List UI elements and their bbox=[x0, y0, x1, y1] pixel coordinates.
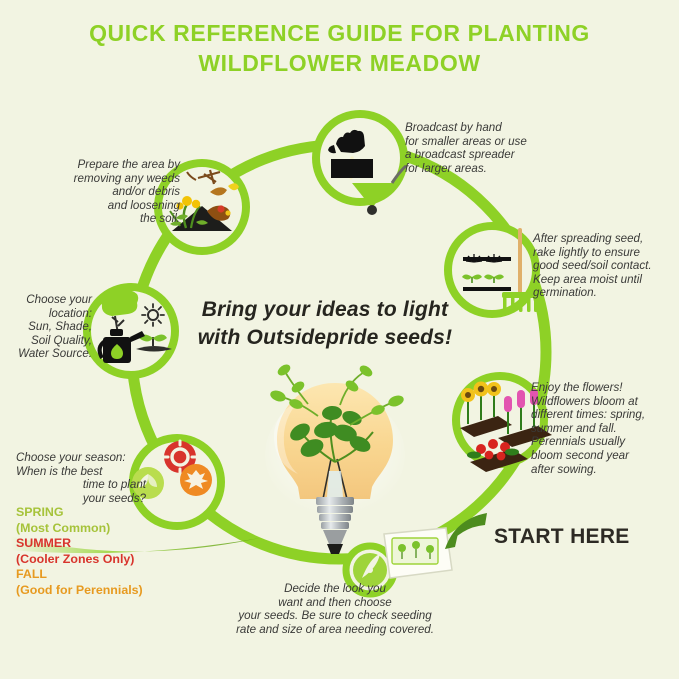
caption-line: Decide the look you bbox=[190, 582, 480, 596]
caption-line: your seeds. Be sure to check seeding bbox=[190, 609, 480, 623]
caption-line: removing any weeds bbox=[40, 172, 180, 186]
node-choose-location[interactable] bbox=[87, 286, 175, 375]
seed-packet-icon bbox=[384, 528, 452, 578]
season-legend: SPRING (Most Common) SUMMER (Cooler Zone… bbox=[16, 505, 191, 599]
tagline-line1: Bring your ideas to light bbox=[170, 296, 480, 324]
caption-line: a broadcast spreader bbox=[405, 148, 565, 162]
caption-decide-look: Decide the look you want and then choose… bbox=[190, 582, 480, 636]
caption-line: for smaller areas or use bbox=[405, 135, 565, 149]
caption-line: summer and fall. bbox=[531, 422, 679, 436]
caption-line: Choose your season: bbox=[16, 451, 146, 465]
caption-line: time to plant bbox=[16, 478, 146, 492]
caption-line: Broadcast by hand bbox=[405, 121, 565, 135]
node-broadcast-seed[interactable] bbox=[316, 114, 406, 215]
caption-line: and/or debris bbox=[40, 185, 180, 199]
season-legend-summer-name: SUMMER bbox=[16, 536, 191, 552]
season-legend-fall-name: FALL bbox=[16, 567, 191, 583]
season-legend-spring-note: (Most Common) bbox=[16, 521, 191, 537]
season-legend-spring-name: SPRING bbox=[16, 505, 191, 521]
caption-rake-lightly: After spreading seed, rake lightly to en… bbox=[533, 232, 679, 300]
tagline-line2: with Outsidepride seeds! bbox=[170, 324, 480, 352]
caption-line: Sun, Shade, bbox=[4, 320, 92, 334]
start-here-label: START HERE bbox=[494, 525, 630, 549]
caption-line: rake lightly to ensure bbox=[533, 246, 679, 260]
caption-line: germination. bbox=[533, 286, 679, 300]
caption-line: the soil. bbox=[40, 212, 180, 226]
caption-line: your seeds? bbox=[16, 492, 146, 506]
caption-prepare-area: Prepare the area by removing any weeds a… bbox=[40, 158, 180, 226]
caption-line: Prepare the area by bbox=[40, 158, 180, 172]
caption-line: after sowing. bbox=[531, 463, 679, 477]
season-legend-fall-note: (Good for Perennials) bbox=[16, 583, 191, 599]
caption-line: for larger areas. bbox=[405, 162, 565, 176]
season-badge-fall bbox=[180, 464, 212, 496]
caption-line: different times: spring, bbox=[531, 408, 679, 422]
caption-line: After spreading seed, bbox=[533, 232, 679, 246]
caption-line: location: bbox=[4, 307, 92, 321]
caption-line: Water Source. bbox=[4, 347, 92, 361]
caption-line: bloom second year bbox=[531, 449, 679, 463]
caption-line: rate and size of area needing covered. bbox=[190, 623, 480, 637]
caption-choose-location: Choose your location: Sun, Shade, Soil Q… bbox=[4, 293, 92, 361]
caption-line: good seed/soil contact. bbox=[533, 259, 679, 273]
caption-line: When is the best bbox=[16, 465, 146, 479]
caption-line: Enjoy the flowers! bbox=[531, 381, 679, 395]
caption-choose-season: Choose your season: When is the best tim… bbox=[16, 451, 146, 505]
caption-line: Keep area moist until bbox=[533, 273, 679, 287]
season-legend-summer-note: (Cooler Zones Only) bbox=[16, 552, 191, 568]
tagline: Bring your ideas to light with Outsidepr… bbox=[170, 296, 480, 352]
infographic-canvas: QUICK REFERENCE GUIDE FOR PLANTING WILDF… bbox=[0, 0, 679, 679]
caption-line: Wildflowers bloom at bbox=[531, 395, 679, 409]
caption-line: Choose your bbox=[4, 293, 92, 307]
caption-enjoy-flowers: Enjoy the flowers! Wildflowers bloom at … bbox=[531, 381, 679, 476]
caption-broadcast-seed: Broadcast by hand for smaller areas or u… bbox=[405, 121, 565, 175]
caption-line: and loosening bbox=[40, 199, 180, 213]
caption-line: Soil Quality, bbox=[4, 334, 92, 348]
caption-line: want and then choose bbox=[190, 596, 480, 610]
caption-line: Perennials usually bbox=[531, 435, 679, 449]
